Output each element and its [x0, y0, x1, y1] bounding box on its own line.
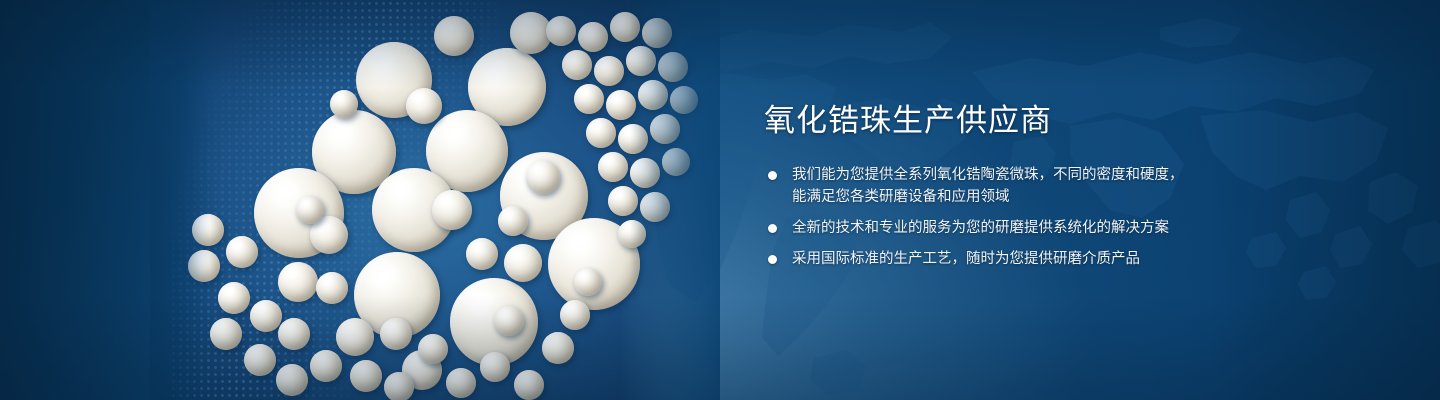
bullet-dot-icon [768, 224, 777, 233]
list-item-line: 全新的技术和专业的服务为您的研磨提供系统化的解决方案 [792, 217, 1284, 239]
list-item: 采用国际标准的生产工艺，随时为您提供研磨介质产品 [764, 248, 1284, 270]
list-item-line: 采用国际标准的生产工艺，随时为您提供研磨介质产品 [792, 248, 1284, 270]
list-item-line: 能满足您各类研磨设备和应用领域 [792, 186, 1284, 208]
list-item-line: 我们能为您提供全系列氧化锆陶瓷微珠，不同的密度和硬度， [792, 164, 1284, 186]
feature-list: 我们能为您提供全系列氧化锆陶瓷微珠，不同的密度和硬度， 能满足您各类研磨设备和应… [764, 164, 1284, 270]
list-item: 我们能为您提供全系列氧化锆陶瓷微珠，不同的密度和硬度， 能满足您各类研磨设备和应… [764, 164, 1284, 208]
page-title: 氧化锆珠生产供应商 [764, 104, 1284, 138]
hero-banner: 氧化锆珠生产供应商 我们能为您提供全系列氧化锆陶瓷微珠，不同的密度和硬度， 能满… [0, 0, 1440, 400]
bullet-dot-icon [768, 255, 777, 264]
list-item: 全新的技术和专业的服务为您的研磨提供系统化的解决方案 [764, 217, 1284, 239]
banner-copy: 氧化锆珠生产供应商 我们能为您提供全系列氧化锆陶瓷微珠，不同的密度和硬度， 能满… [764, 104, 1284, 270]
bullet-dot-icon [768, 171, 777, 180]
